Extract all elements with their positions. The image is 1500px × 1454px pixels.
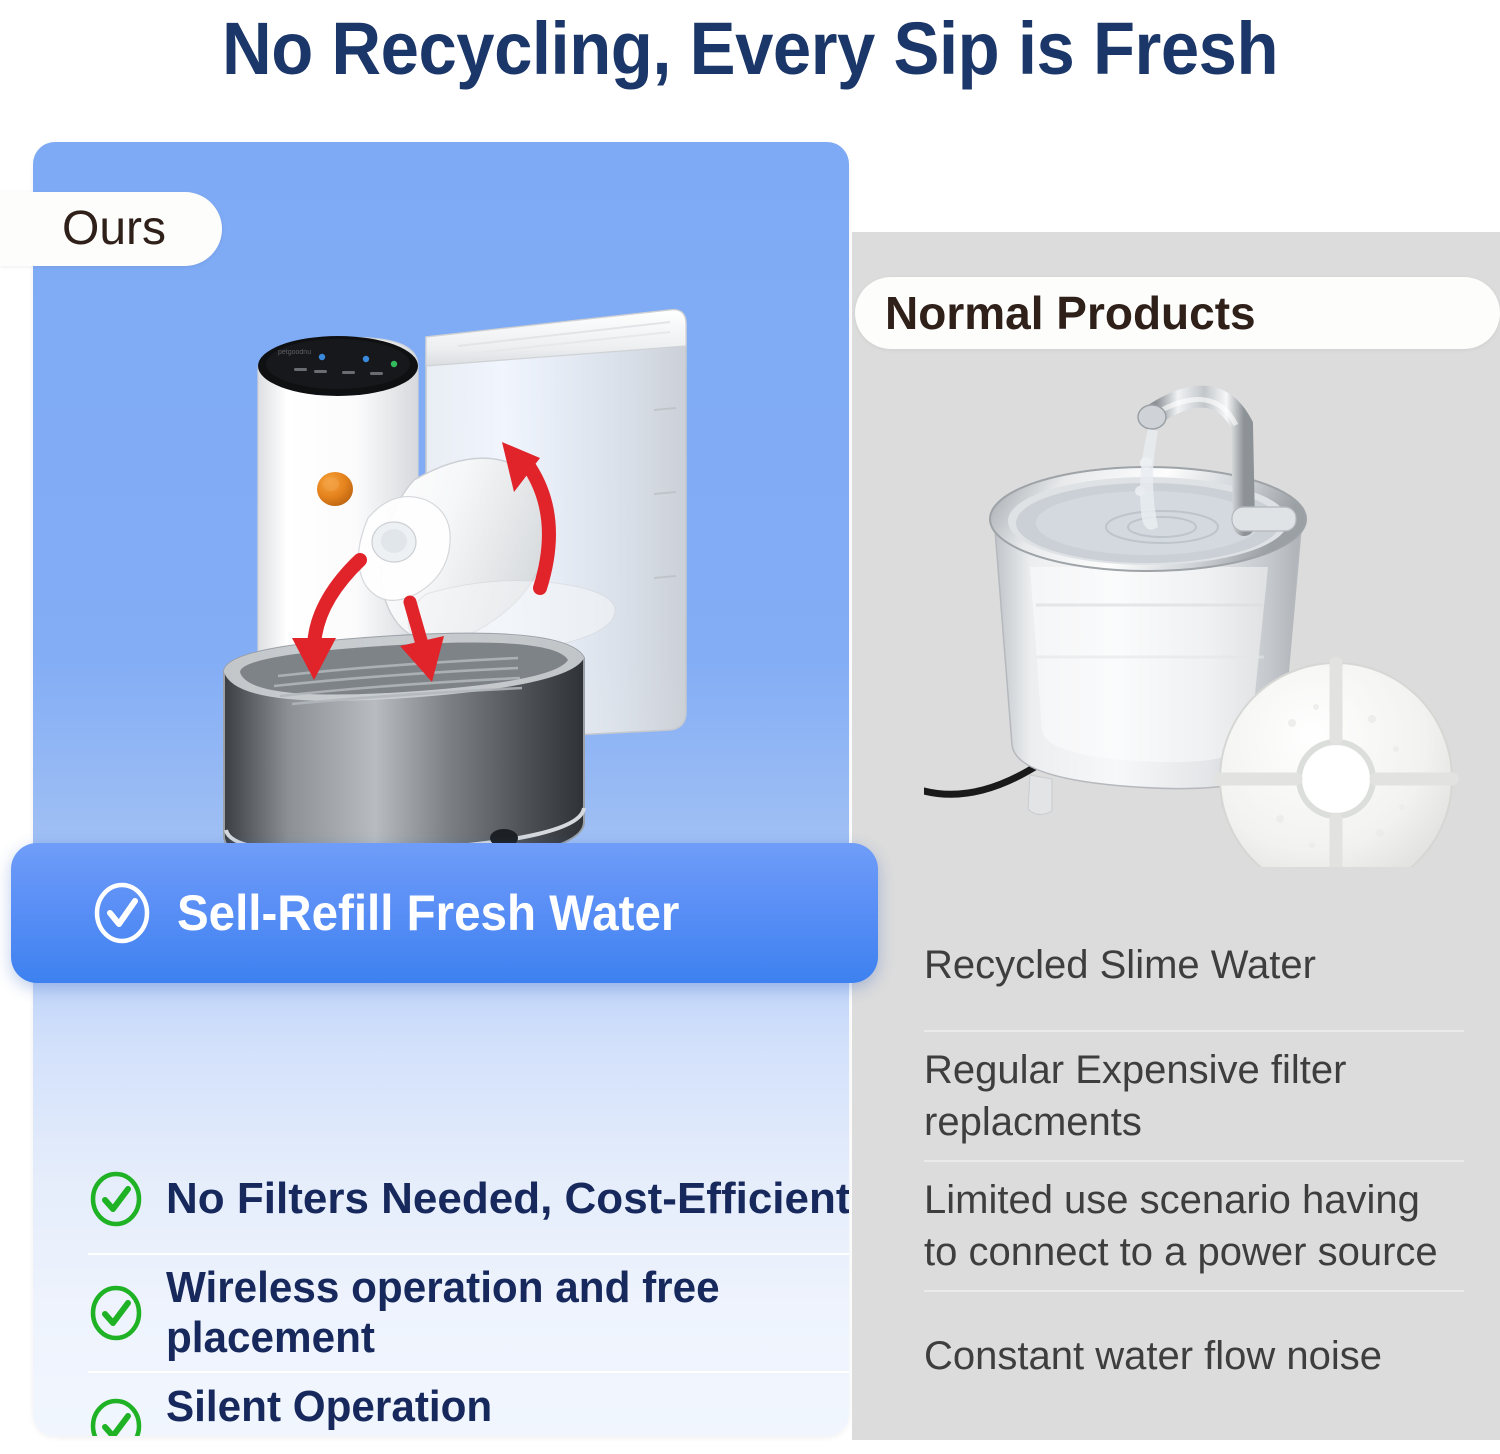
normal-feature-item: Recycled Slime Water	[924, 900, 1464, 1030]
normal-feature-list: Recycled Slime Water Regular Expensive f…	[924, 900, 1464, 1420]
ours-feature-title: Wireless operation and free placement	[166, 1263, 780, 1363]
check-circle-icon	[88, 1285, 144, 1341]
ours-feature-list: No Filters Needed, Cost-Efficient Wirele…	[88, 1145, 849, 1436]
highlight-banner-label: Sell-Refill Fresh Water	[177, 885, 679, 941]
normal-panel: Recycled Slime Water Regular Expensive f…	[852, 232, 1500, 1440]
normal-products-badge: Normal Products	[855, 277, 1500, 349]
page-title: No Recycling, Every Sip is Fresh	[53, 4, 1448, 94]
ours-badge: Ours	[0, 192, 222, 266]
check-circle-icon	[91, 882, 153, 944]
ours-feature-item: Wireless operation and free placement	[88, 1253, 849, 1371]
normal-product-image	[924, 367, 1474, 867]
base-bowl	[224, 634, 584, 871]
ours-panel: petgoodnu	[33, 142, 849, 1436]
ours-badge-label: Ours	[62, 203, 166, 255]
ours-feature-subtitle: (Except 40-50 dB sound during water chan…	[166, 1435, 849, 1437]
ours-product-image: petgoodnu	[218, 242, 738, 942]
normal-feature-item: Constant water flow noise	[924, 1290, 1464, 1420]
ours-feature-title: Silent Operation	[166, 1382, 849, 1432]
normal-feature-item: Limited use scenario having to connect t…	[924, 1160, 1464, 1290]
ours-feature-item: Silent Operation (Except 40-50 dB sound …	[88, 1371, 849, 1436]
ours-feature-item: No Filters Needed, Cost-Efficient	[88, 1145, 849, 1253]
normal-feature-text: Recycled Slime Water	[924, 939, 1316, 991]
normal-products-badge-label: Normal Products	[885, 288, 1256, 338]
svg-text:petgoodnu: petgoodnu	[278, 349, 311, 356]
normal-feature-text: Constant water flow noise	[924, 1330, 1382, 1382]
highlight-banner: Sell-Refill Fresh Water	[11, 843, 878, 983]
check-circle-icon	[88, 1171, 144, 1227]
normal-feature-text: Regular Expensive filter replacments	[924, 1044, 1464, 1148]
normal-feature-item: Regular Expensive filter replacments	[924, 1030, 1464, 1160]
check-circle-icon	[88, 1398, 144, 1436]
normal-feature-text: Limited use scenario having to connect t…	[924, 1174, 1464, 1278]
ours-feature-title: No Filters Needed, Cost-Efficient	[166, 1174, 849, 1223]
